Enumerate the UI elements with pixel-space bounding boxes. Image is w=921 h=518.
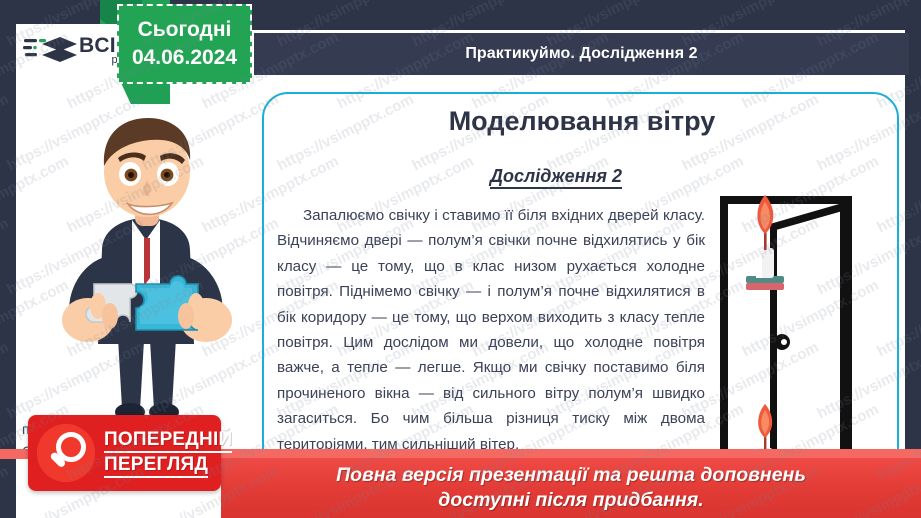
watermark-text: https://vsimpptx.com xyxy=(0,215,11,299)
purchase-notice-line-1: Повна версія презентації та решта доповн… xyxy=(336,463,806,488)
watermark-text: https://vsimpptx.com xyxy=(0,339,11,423)
panel-title: Моделювання вітру xyxy=(282,106,882,137)
watermark-text: https://vsimpptx.com xyxy=(0,91,11,175)
magnifier-icon xyxy=(37,424,95,482)
date-badge-label: Сьогодні xyxy=(138,16,232,44)
open-door-with-candles-illustration xyxy=(712,190,880,480)
header-bar: Практикуймо. Дослідження 2 xyxy=(254,33,909,75)
watermark-text: https://vsimpptx.com xyxy=(0,463,11,518)
preview-badge-line-1: ПОПЕРЕДНІЙ xyxy=(104,428,232,453)
panel-body-text: Запалюємо свічку і ставимо її біля вхідн… xyxy=(277,203,705,488)
preview-badge-label: ПОПЕРЕДНІЙ ПЕРЕГЛЯД xyxy=(104,428,232,478)
slide-root: BCIM pptx Сьогодні 04.06.2024 Практикуйм… xyxy=(0,0,921,518)
preview-badge[interactable]: ПОПЕРЕДНІЙ ПЕРЕГЛЯД xyxy=(28,415,221,491)
date-badge: Сьогодні 04.06.2024 xyxy=(117,4,252,84)
businessman-with-puzzle-pieces-illustration xyxy=(40,108,252,428)
page-title: Практикуймо. Дослідження 2 xyxy=(465,45,697,63)
purchase-notice-banner: Повна версія презентації та решта доповн… xyxy=(221,458,921,518)
date-badge-value: 04.06.2024 xyxy=(132,44,237,72)
preview-badge-line-2: ПЕРЕГЛЯД xyxy=(104,453,208,478)
panel-subtitle-text: Дослідження 2 xyxy=(490,166,622,189)
panel-subtitle: Дослідження 2 xyxy=(282,166,830,187)
graduation-cap-icon xyxy=(22,30,78,70)
purchase-notice-line-2: доступні після придбання. xyxy=(438,488,703,513)
